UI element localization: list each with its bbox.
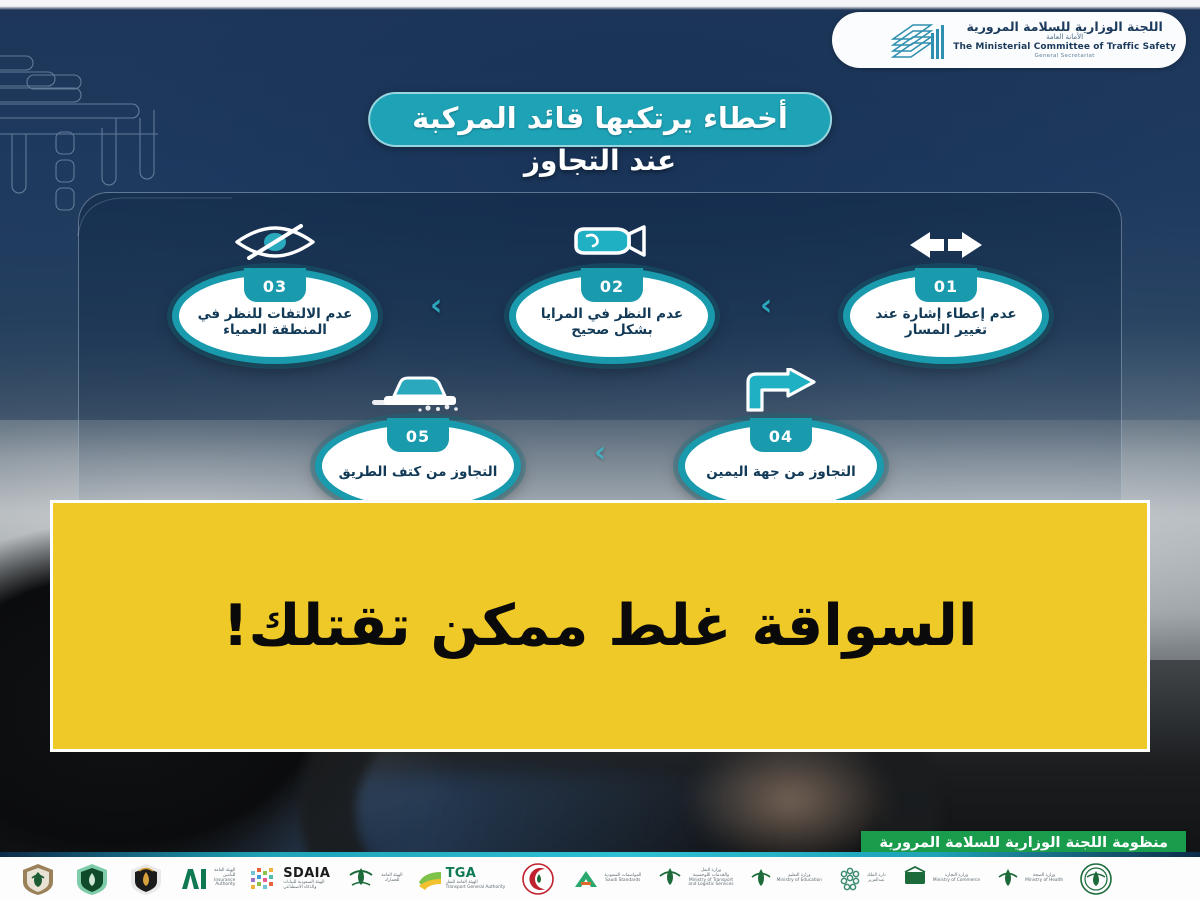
ministry-of-education-logo: وزارة التعليمMinistry of Education: [748, 860, 822, 898]
node-02-bubble[interactable]: 02 عدم النظر في المرايا بشكل صحيح: [509, 268, 715, 364]
committee-name-arabic: اللجنة الوزارية للسلامة المرورية: [953, 20, 1176, 33]
general-directorate-of-traffic-logo: [72, 860, 112, 898]
partner-logos-strip: الهيئة العامةللتأمينInsuranceAuthority: [0, 857, 1200, 900]
chevron-left-icon-b: ‹: [430, 291, 442, 321]
node-01-bubble[interactable]: 01 عدم إعطاء إشارة عند تغيير المسار: [843, 268, 1049, 364]
transport-general-authority-logo: TGA الهيئة العامة للنقلTransport General…: [417, 860, 506, 898]
chevron-left-icon-a: ‹: [760, 291, 772, 321]
node-05-icon-wrap: [315, 358, 521, 412]
king-abdulaziz-foundation-caption: دارة الملكعبدالعزيز: [867, 874, 886, 884]
committee-name-english: The Ministerial Committee of Traffic Saf…: [953, 43, 1176, 52]
public-security-logo: [126, 860, 166, 898]
sdaia-caption: الهيئة السعودية للبياناتوالذكاء الاصطناع…: [283, 881, 324, 891]
node-03-number: 03: [244, 268, 306, 302]
node-01[interactable]: 01 عدم إعطاء إشارة عند تغيير المسار: [843, 208, 1049, 364]
tga-caption: الهيئة العامة للنقلTransport General Aut…: [446, 881, 506, 891]
node-02[interactable]: 02 عدم النظر في المرايا بشكل صحيح: [509, 208, 715, 364]
committee-sub-arabic: الأمانة العامة: [953, 34, 1176, 41]
committee-logo-text: اللجنة الوزارية للسلامة المرورية الأمانة…: [953, 20, 1176, 60]
ministry-of-education-caption: وزارة التعليمMinistry of Education: [777, 874, 822, 884]
warning-banner-text: السواقة غلط ممكن تقتلك!: [223, 593, 978, 659]
node-01-icon-wrap: [843, 208, 1049, 262]
saudi-red-crescent-logo: [519, 860, 557, 898]
node-03[interactable]: 03 عدم الالتفات للنظر في المنطقة العمياء: [172, 208, 378, 364]
insurance-authority-logo: الهيئة العامةللتأمينInsuranceAuthority: [180, 860, 235, 898]
sdaia-wordmark: SDAIA: [283, 866, 330, 881]
left-right-arrows-icon: [900, 228, 992, 262]
king-abdulaziz-foundation-logo: دارة الملكعبدالعزيز: [836, 860, 886, 898]
eye-slash-icon: [227, 222, 323, 262]
ministry-of-transport-logo: وزارة النقلوالخدمات اللوجستيةMinistry of…: [655, 860, 733, 898]
car-dust-icon: [368, 370, 468, 412]
node-04-number: 04: [750, 418, 812, 452]
ministry-of-media-logo: [1077, 860, 1115, 898]
saudi-customs-authority-logo: الهيئة العامةللجمارك: [344, 860, 402, 898]
committee-logo: اللجنة الوزارية للسلامة المرورية الأمانة…: [832, 12, 1186, 68]
tga-wordmark: TGA: [446, 866, 477, 881]
node-04-icon-wrap: [678, 358, 884, 412]
node-04-label: التجاوز من جهة اليمين: [685, 448, 877, 484]
saudi-customs-caption: الهيئة العامةللجمارك: [381, 874, 402, 884]
chevron-left-icon-c: ‹: [594, 438, 606, 468]
saudi-standards-caption: المواصفات السعوديةSaudi Standards: [604, 874, 641, 884]
ministry-of-commerce-logo: وزارة التجارةMinistry of Commerce: [900, 860, 980, 898]
ministry-of-commerce-caption: وزارة التجارةMinistry of Commerce: [933, 874, 980, 884]
saudi-standards-logo: المواصفات السعوديةSaudi Standards: [571, 860, 641, 898]
building-stripes-icon: [891, 19, 945, 61]
right-turn-arrow-icon: [742, 368, 820, 412]
insurance-authority-caption: الهيئة العامةللتأمينInsuranceAuthority: [214, 869, 235, 889]
node-05[interactable]: 05 التجاوز من كتف الطريق: [315, 358, 521, 514]
sdaia-logo: SDAIA الهيئة السعودية للبياناتوالذكاء ال…: [249, 860, 330, 898]
infographic-canvas: اللجنة الوزارية للسلامة المرورية الأمانة…: [0, 0, 1200, 900]
node-03-bubble[interactable]: 03 عدم الالتفات للنظر في المنطقة العمياء: [172, 268, 378, 364]
ministry-of-interior-logo: [18, 860, 58, 898]
ministry-of-health-logo: وزارة الصحةMinistry of Health: [994, 860, 1063, 898]
ministry-of-health-caption: وزارة الصحةMinistry of Health: [1025, 874, 1063, 884]
ministry-of-transport-caption: وزارة النقلوالخدمات اللوجستيةMinistry of…: [688, 869, 733, 889]
page-subtitle: عند التجاوز: [524, 144, 676, 177]
page-title: أخطاء يرتكبها قائد المركبة: [368, 92, 832, 147]
side-mirror-icon: [566, 224, 658, 262]
node-05-label: التجاوز من كتف الطريق: [322, 448, 514, 484]
node-03-icon-wrap: [172, 208, 378, 262]
node-02-number: 02: [581, 268, 643, 302]
warning-banner: السواقة غلط ممكن تقتلك!: [50, 500, 1150, 752]
node-04[interactable]: 04 التجاوز من جهة اليمين: [678, 358, 884, 514]
node-02-icon-wrap: [509, 208, 715, 262]
node-01-number: 01: [915, 268, 977, 302]
committee-sub-english: General Secretariat: [953, 54, 1176, 60]
node-05-number: 05: [387, 418, 449, 452]
